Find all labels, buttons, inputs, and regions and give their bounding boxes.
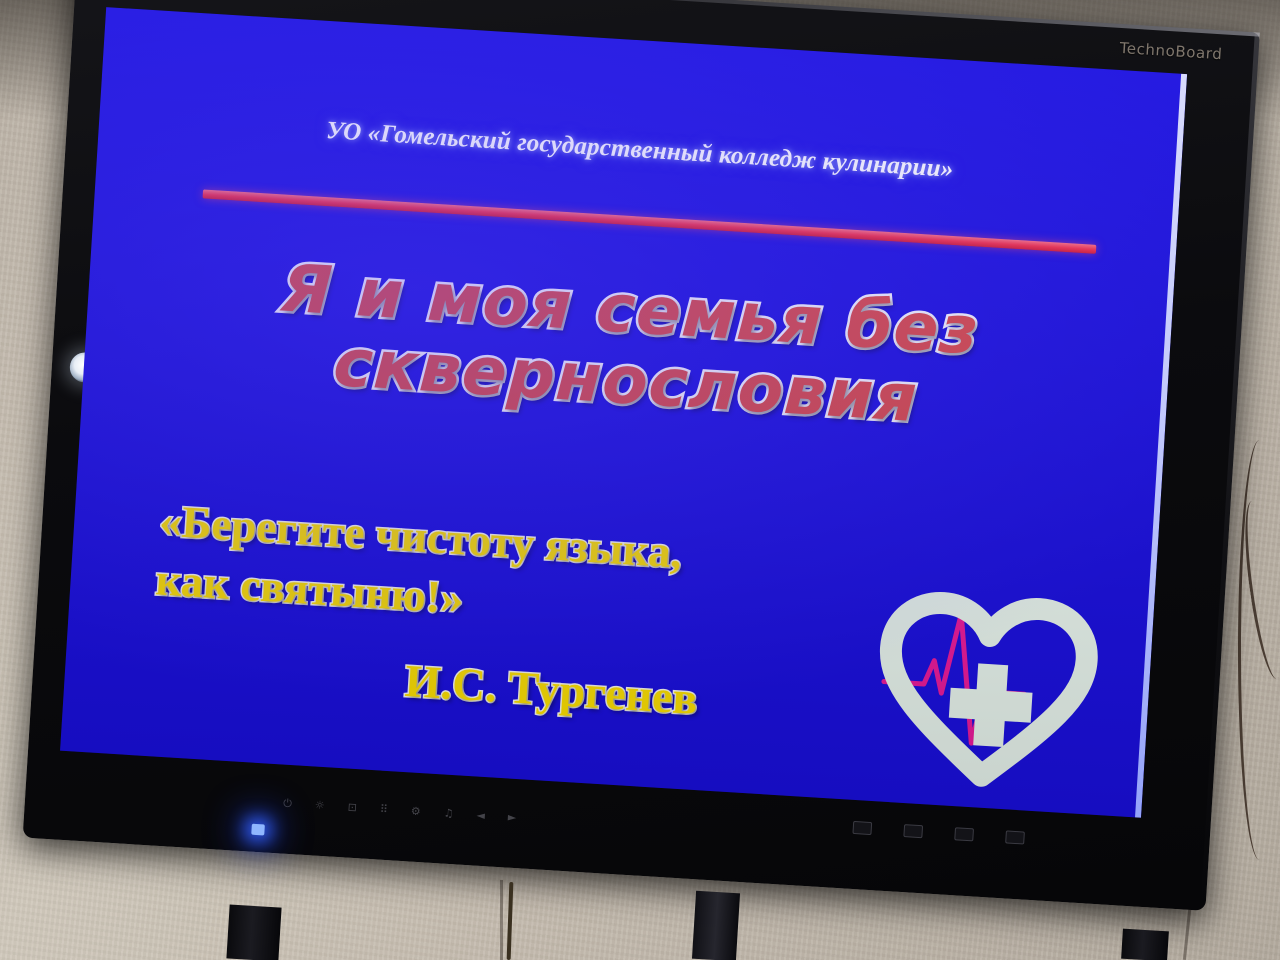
brightness-icon[interactable]: ☼ — [315, 800, 326, 812]
settings-icon[interactable]: ⚙ — [411, 806, 422, 818]
stand-leg-right — [1121, 929, 1169, 960]
slide-divider-rule — [203, 189, 1097, 253]
vga-port[interactable] — [954, 827, 974, 841]
wall-panel-seam-left — [500, 880, 503, 960]
heart-with-cross-and-ecg-icon — [822, 558, 1136, 806]
power-icon[interactable]: ⏻ — [283, 798, 292, 810]
menu-icon[interactable]: ⠿ — [380, 804, 389, 815]
input-source-icon[interactable]: ⊡ — [347, 802, 357, 814]
slide-quote: «Берегите чистоту языка, как святыню!» — [154, 491, 684, 642]
volume-up-icon[interactable]: ► — [508, 812, 517, 824]
mute-icon[interactable]: ♫ — [443, 808, 454, 820]
usb-port[interactable] — [852, 821, 872, 835]
brand-logo-text: TechnoBoard — [1119, 39, 1223, 63]
volume-down-icon[interactable]: ◄ — [476, 810, 485, 822]
power-led-indicator — [251, 824, 265, 836]
display-bezel: TechnoBoard УО «Гомельский государственн… — [23, 0, 1260, 911]
stand-column-center — [692, 891, 740, 960]
slide-screen[interactable]: УО «Гомельский государственный колледж к… — [60, 7, 1187, 818]
photo-scene: TechnoBoard УО «Гомельский государственн… — [0, 0, 1280, 960]
stand-leg-left — [226, 904, 281, 960]
hdmi-port[interactable] — [903, 824, 923, 838]
bezel-control-buttons[interactable]: ⏻ ☼ ⊡ ⠿ ⚙ ♫ ◄ ► — [283, 798, 517, 823]
slide-institution-header: УО «Гомельский государственный колледж к… — [99, 103, 1182, 198]
audio-port[interactable] — [1005, 830, 1025, 844]
display-unit: TechnoBoard УО «Гомельский государственн… — [0, 0, 1280, 904]
bezel-right-highlight — [1200, 32, 1259, 911]
bezel-port-row[interactable] — [852, 821, 1024, 845]
slide-title: Я и моя семья без сквернословия — [83, 242, 1173, 450]
slide-quote-attribution: И.С. Тургенев — [403, 654, 699, 725]
